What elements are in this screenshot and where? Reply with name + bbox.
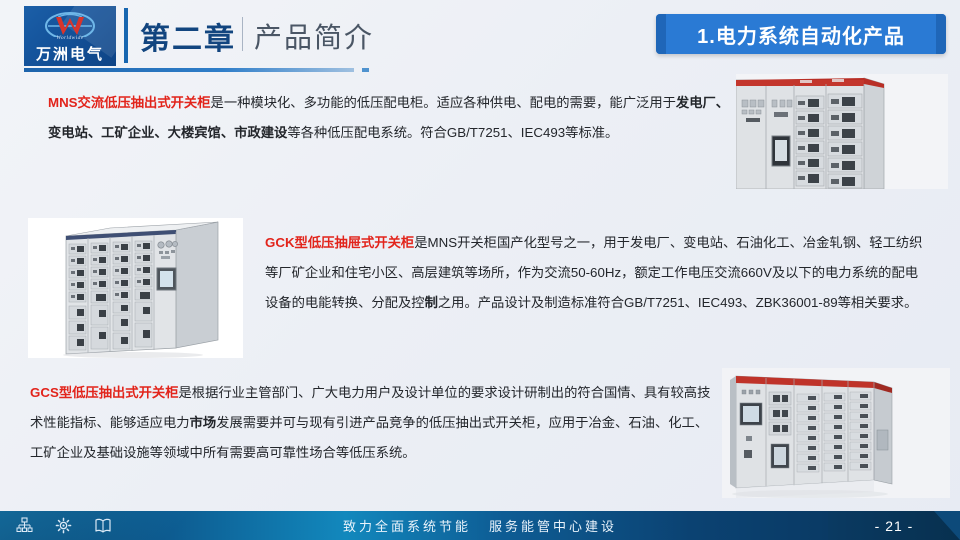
section-badge-label: 1.电力系统自动化产品 xyxy=(656,14,946,54)
slide-header: Worldwide 万洲电气 第二章 产品简介 1.电力系统自动化产品 xyxy=(0,0,960,72)
chapter-separator xyxy=(242,17,243,51)
footer-slogan-1: 致力全面系统节能 xyxy=(343,516,471,535)
header-divider xyxy=(124,8,128,63)
gck-switchgear-illustration xyxy=(28,218,243,358)
gcs-switchgear-photo xyxy=(722,368,950,498)
paragraph-gcs-keyword: GCS型低压抽出式开关柜 xyxy=(30,385,179,400)
slide: Worldwide 万洲电气 第二章 产品简介 1.电力系统自动化产品 MNS交… xyxy=(0,0,960,540)
mns-switchgear-illustration xyxy=(736,74,948,189)
paragraph-gck-text-2: 之用。产品设计及制造标准符合GB/T7251、IEC493、ZBK36001-8… xyxy=(438,295,918,310)
footer-icon-group xyxy=(16,511,112,540)
page-number: - 21 - xyxy=(828,511,960,540)
paragraph-gcs: GCS型低压抽出式开关柜是根据行业主管部门、广大电力用户及设计单位的要求设计研制… xyxy=(30,378,720,468)
header-underline xyxy=(24,68,354,72)
gcs-switchgear-illustration xyxy=(722,368,950,498)
footer-slogan: 致力全面系统节能 服务能管中心建设 xyxy=(0,511,960,540)
gear-icon[interactable] xyxy=(55,517,72,534)
mns-switchgear-photo xyxy=(736,74,948,189)
section-badge: 1.电力系统自动化产品 xyxy=(656,14,946,54)
paragraph-gck: GCK型低压抽屉式开关柜是MNS开关柜国产化型号之一，用于发电厂、变电站、石油化… xyxy=(265,228,925,318)
paragraph-gck-bold-1: 制 xyxy=(425,295,438,310)
footer-slogan-2: 服务能管中心建设 xyxy=(489,516,617,535)
chapter-title: 第二章 xyxy=(140,14,236,58)
header-underline-accent xyxy=(362,68,369,72)
paragraph-mns-keyword: MNS交流低压抽出式开关柜 xyxy=(48,95,211,110)
gck-switchgear-photo xyxy=(28,218,243,358)
logo-company-name: 万洲电气 xyxy=(24,43,116,64)
paragraph-mns: MNS交流低压抽出式开关柜是一种模块化、多功能的低压配电柜。适应各种供电、配电的… xyxy=(48,88,738,148)
paragraph-gck-keyword: GCK型低压抽屉式开关柜 xyxy=(265,235,414,250)
book-icon[interactable] xyxy=(94,517,112,534)
company-logo: Worldwide 万洲电气 xyxy=(24,6,116,66)
sitemap-icon[interactable] xyxy=(16,517,33,534)
chapter-subtitle: 产品简介 xyxy=(254,16,374,56)
worldwide-w-logo-icon xyxy=(44,11,96,37)
slide-footer: 致力全面系统节能 服务能管中心建设 - 21 - xyxy=(0,511,960,540)
logo-subtext: Worldwide xyxy=(24,35,116,41)
paragraph-gcs-bold-1: 市场 xyxy=(190,415,217,430)
paragraph-mns-text-1: 是一种模块化、多功能的低压配电柜。适应各种供电、配电的需要，能广泛用于 xyxy=(211,95,676,110)
paragraph-mns-text-2: 等各种低压配电系统。符合GB/T7251、IEC493等标准。 xyxy=(287,125,618,140)
